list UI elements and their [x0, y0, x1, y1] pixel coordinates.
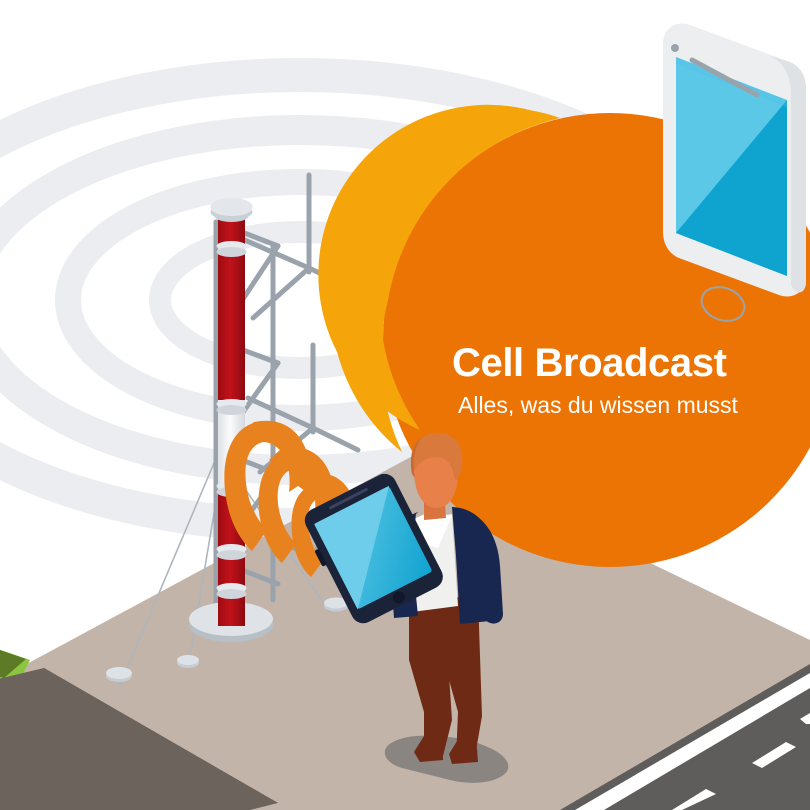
cell-broadcast-illustration — [0, 0, 810, 810]
illustration-canvas: Cell Broadcast Alles, was du wissen muss… — [0, 0, 810, 810]
mast-top-cap — [211, 198, 253, 222]
